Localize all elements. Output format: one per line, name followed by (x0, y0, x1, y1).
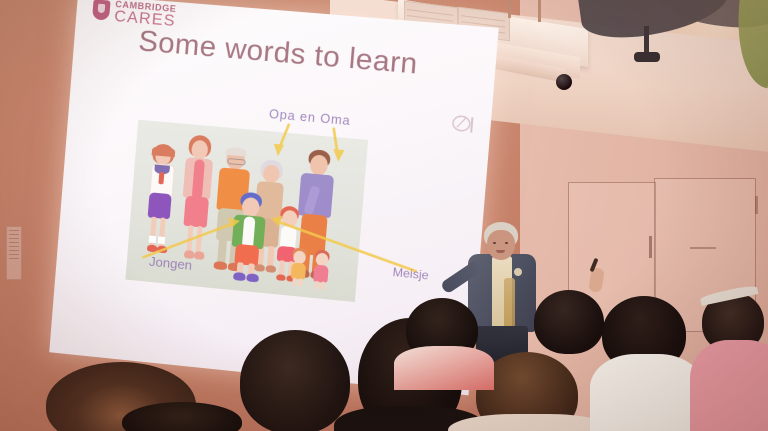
audience-member (700, 286, 768, 431)
door-handle-icon[interactable] (755, 196, 758, 214)
presenter-scarf-inner (504, 278, 515, 328)
fan-hub (634, 52, 660, 62)
door-latch (690, 247, 716, 249)
wall-notice (6, 226, 22, 280)
ceiling-rod (538, 0, 541, 22)
audience-member (400, 298, 486, 368)
audience-member (122, 402, 242, 431)
presenter-face (487, 230, 515, 260)
presentation-scene: CAMBRIDGE CARES Some words to learn (0, 0, 768, 431)
ceiling-rod (508, 0, 511, 18)
door-handle-icon[interactable] (649, 236, 652, 258)
presenter-badge (514, 268, 522, 276)
ceiling-camera-icon (556, 74, 572, 90)
audience-raised-hand (586, 262, 610, 312)
